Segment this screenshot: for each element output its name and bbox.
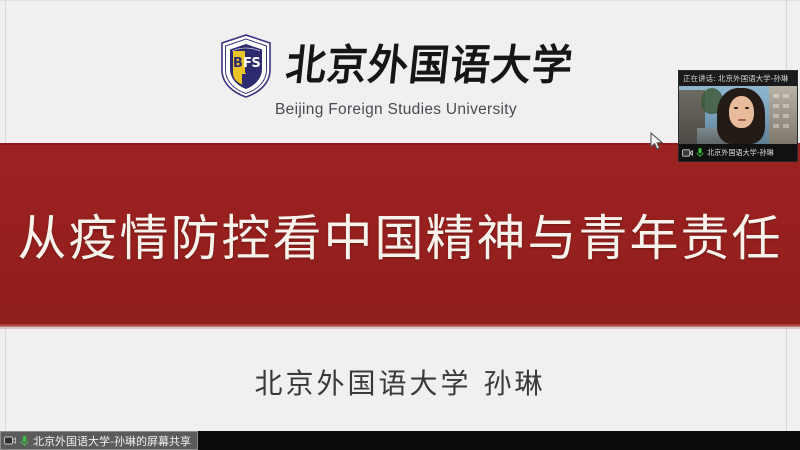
slide-top-border xyxy=(0,0,800,1)
slide-presenter-subtitle: 北京外国语大学 孙琳 xyxy=(0,362,800,402)
screen-share-label: 北京外国语大学-孙琳的屏幕共享 xyxy=(33,433,191,449)
video-camera-icon[interactable] xyxy=(682,148,693,158)
active-speaker-label: 正在讲话: 北京外国语大学-孙琳 xyxy=(683,73,788,83)
active-speaker-banner: 正在讲话: 北京外国语大学-孙琳 xyxy=(679,71,797,86)
zoom-shared-screen: B F S 北京外国语大学 Beijing Foreign Studies Un… xyxy=(0,0,800,450)
video-background-building-right xyxy=(769,86,798,144)
microphone-icon[interactable] xyxy=(696,147,704,158)
title-banner-bottom-edge-2 xyxy=(0,327,800,329)
video-person-eye-right xyxy=(745,107,749,109)
slide-title: 从疫情防控看中国精神与青年责任 xyxy=(0,143,800,326)
video-person-eye-left xyxy=(734,107,738,109)
screen-share-status-bar[interactable]: 北京外国语大学-孙琳的屏幕共享 xyxy=(0,431,198,450)
bfsu-crest-icon: B F S xyxy=(220,34,272,98)
university-name-cn: 北京外国语大学 xyxy=(283,43,575,89)
logo-row: B F S 北京外国语大学 xyxy=(220,33,573,99)
video-person-mouth xyxy=(738,119,746,121)
webcam-video-feed xyxy=(679,86,798,144)
svg-text:B: B xyxy=(233,56,243,71)
university-name-en: Beijing Foreign Studies University xyxy=(275,101,517,119)
participant-name-label: 北京外国语大学-孙琳 xyxy=(707,147,774,157)
presentation-slide: B F S 北京外国语大学 Beijing Foreign Studies Un… xyxy=(0,0,800,431)
microphone-icon[interactable] xyxy=(20,435,29,447)
video-camera-icon[interactable] xyxy=(4,435,16,446)
video-person-face xyxy=(729,96,754,128)
video-panel-footer: 北京外国语大学-孙琳 xyxy=(679,144,798,161)
svg-text:S: S xyxy=(251,56,260,71)
active-speaker-video-panel[interactable]: 正在讲话: 北京外国语大学-孙琳 xyxy=(678,70,798,162)
university-logo-block: B F S 北京外国语大学 Beijing Foreign Studies Un… xyxy=(246,33,546,125)
